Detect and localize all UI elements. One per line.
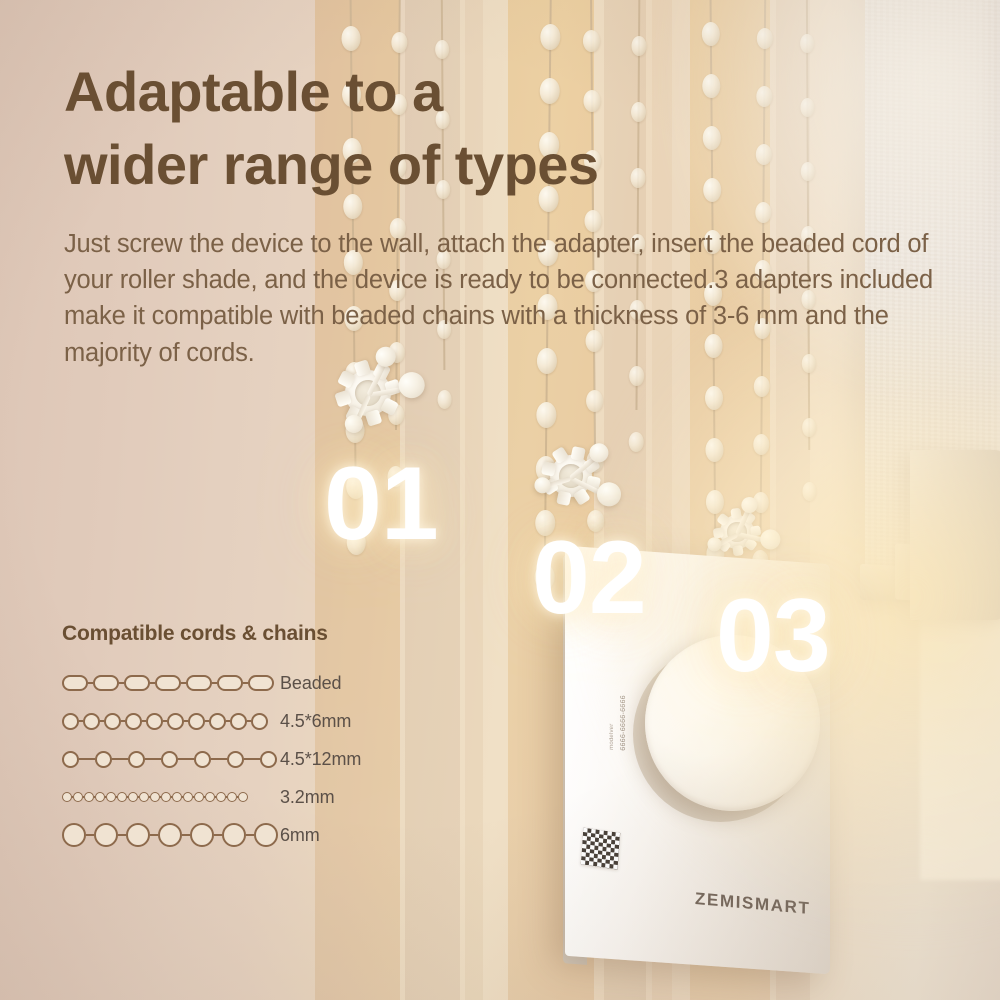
chain-bead	[62, 675, 88, 691]
chain-bead	[194, 792, 204, 802]
compatibility-row: 4.5*12mm	[62, 740, 462, 778]
chain-bead	[104, 713, 121, 730]
chain-bead	[126, 823, 150, 847]
compatibility-row-list: Beaded4.5*6mm4.5*12mm3.2mm6mm	[62, 664, 462, 854]
chain-diagram-large-circle-chain	[62, 823, 280, 847]
headline-line-1: Adaptable to a	[64, 60, 443, 123]
compatibility-row-label: 3.2mm	[280, 787, 335, 808]
body-description: Just screw the device to the wall, attac…	[64, 226, 934, 371]
chain-bead	[161, 751, 178, 768]
compatibility-row: 6mm	[62, 816, 462, 854]
compatibility-row: 3.2mm	[62, 778, 462, 816]
chain-bead	[238, 792, 248, 802]
chain-bead	[128, 751, 145, 768]
chain-bead	[158, 823, 182, 847]
compatibility-row: Beaded	[62, 664, 462, 702]
chain-bead	[217, 675, 243, 691]
chain-connector	[178, 758, 194, 760]
compatibility-row-label: Beaded	[280, 673, 341, 694]
chain-connector	[182, 834, 190, 836]
chain-bead	[62, 751, 79, 768]
product-marketing-image: 6666-6666-6666 modelver ZEMISMART 01 02 …	[0, 0, 1000, 1000]
chain-bead	[260, 751, 277, 768]
chain-diagram-lozenge-chain	[62, 675, 280, 691]
chain-connector	[86, 834, 94, 836]
chain-bead	[94, 823, 118, 847]
chain-diagram-micro-bead-chain	[62, 792, 280, 802]
chain-bead	[62, 823, 86, 847]
chain-bead	[190, 823, 214, 847]
step-number-02: 02	[532, 526, 646, 630]
chain-bead	[84, 792, 94, 802]
chain-bead	[230, 713, 247, 730]
chain-bead	[183, 792, 193, 802]
chain-bead	[139, 792, 149, 802]
chain-bead	[117, 792, 127, 802]
chain-connector	[145, 758, 161, 760]
chain-connector	[112, 758, 128, 760]
chain-bead	[205, 792, 215, 802]
chain-connector	[244, 758, 260, 760]
chain-bead	[188, 713, 205, 730]
chain-bead	[62, 792, 72, 802]
chain-bead	[150, 792, 160, 802]
step-number-03: 03	[716, 584, 830, 688]
compatibility-row-label: 6mm	[280, 825, 320, 846]
chain-bead	[227, 792, 237, 802]
chain-bead	[172, 792, 182, 802]
chain-bead	[161, 792, 171, 802]
chain-diagram-circle-chain-tight	[62, 713, 280, 730]
chain-bead	[254, 823, 278, 847]
compatibility-section: Compatible cords & chains Beaded4.5*6mm4…	[62, 622, 462, 854]
chain-connector	[214, 834, 222, 836]
chain-bead	[146, 713, 163, 730]
chain-bead	[95, 792, 105, 802]
chain-bead	[95, 751, 112, 768]
page-title: Adaptable to a wider range of types	[64, 56, 599, 202]
chain-bead	[251, 713, 268, 730]
compatibility-row-label: 4.5*12mm	[280, 749, 361, 770]
chain-connector	[150, 834, 158, 836]
chain-bead	[186, 675, 212, 691]
chain-diagram-circle-chain-wide	[62, 751, 280, 768]
compatibility-row-label: 4.5*6mm	[280, 711, 351, 732]
chain-bead	[216, 792, 226, 802]
chain-connector	[118, 834, 126, 836]
chain-bead	[222, 823, 246, 847]
headline-line-2: wider range of types	[64, 129, 599, 202]
step-number-01: 01	[324, 452, 438, 556]
chain-bead	[194, 751, 211, 768]
chain-bead	[128, 792, 138, 802]
chain-bead	[124, 675, 150, 691]
chain-bead	[227, 751, 244, 768]
chain-connector	[211, 758, 227, 760]
compatibility-title: Compatible cords & chains	[62, 622, 462, 646]
chain-bead	[73, 792, 83, 802]
chain-bead	[106, 792, 116, 802]
chain-bead	[167, 713, 184, 730]
chain-bead	[62, 713, 79, 730]
chain-bead	[209, 713, 226, 730]
compatibility-row: 4.5*6mm	[62, 702, 462, 740]
chain-connector	[79, 758, 95, 760]
chain-bead	[248, 675, 274, 691]
chain-bead	[125, 713, 142, 730]
chain-bead	[155, 675, 181, 691]
chain-connector	[246, 834, 254, 836]
chain-bead	[93, 675, 119, 691]
chain-bead	[83, 713, 100, 730]
